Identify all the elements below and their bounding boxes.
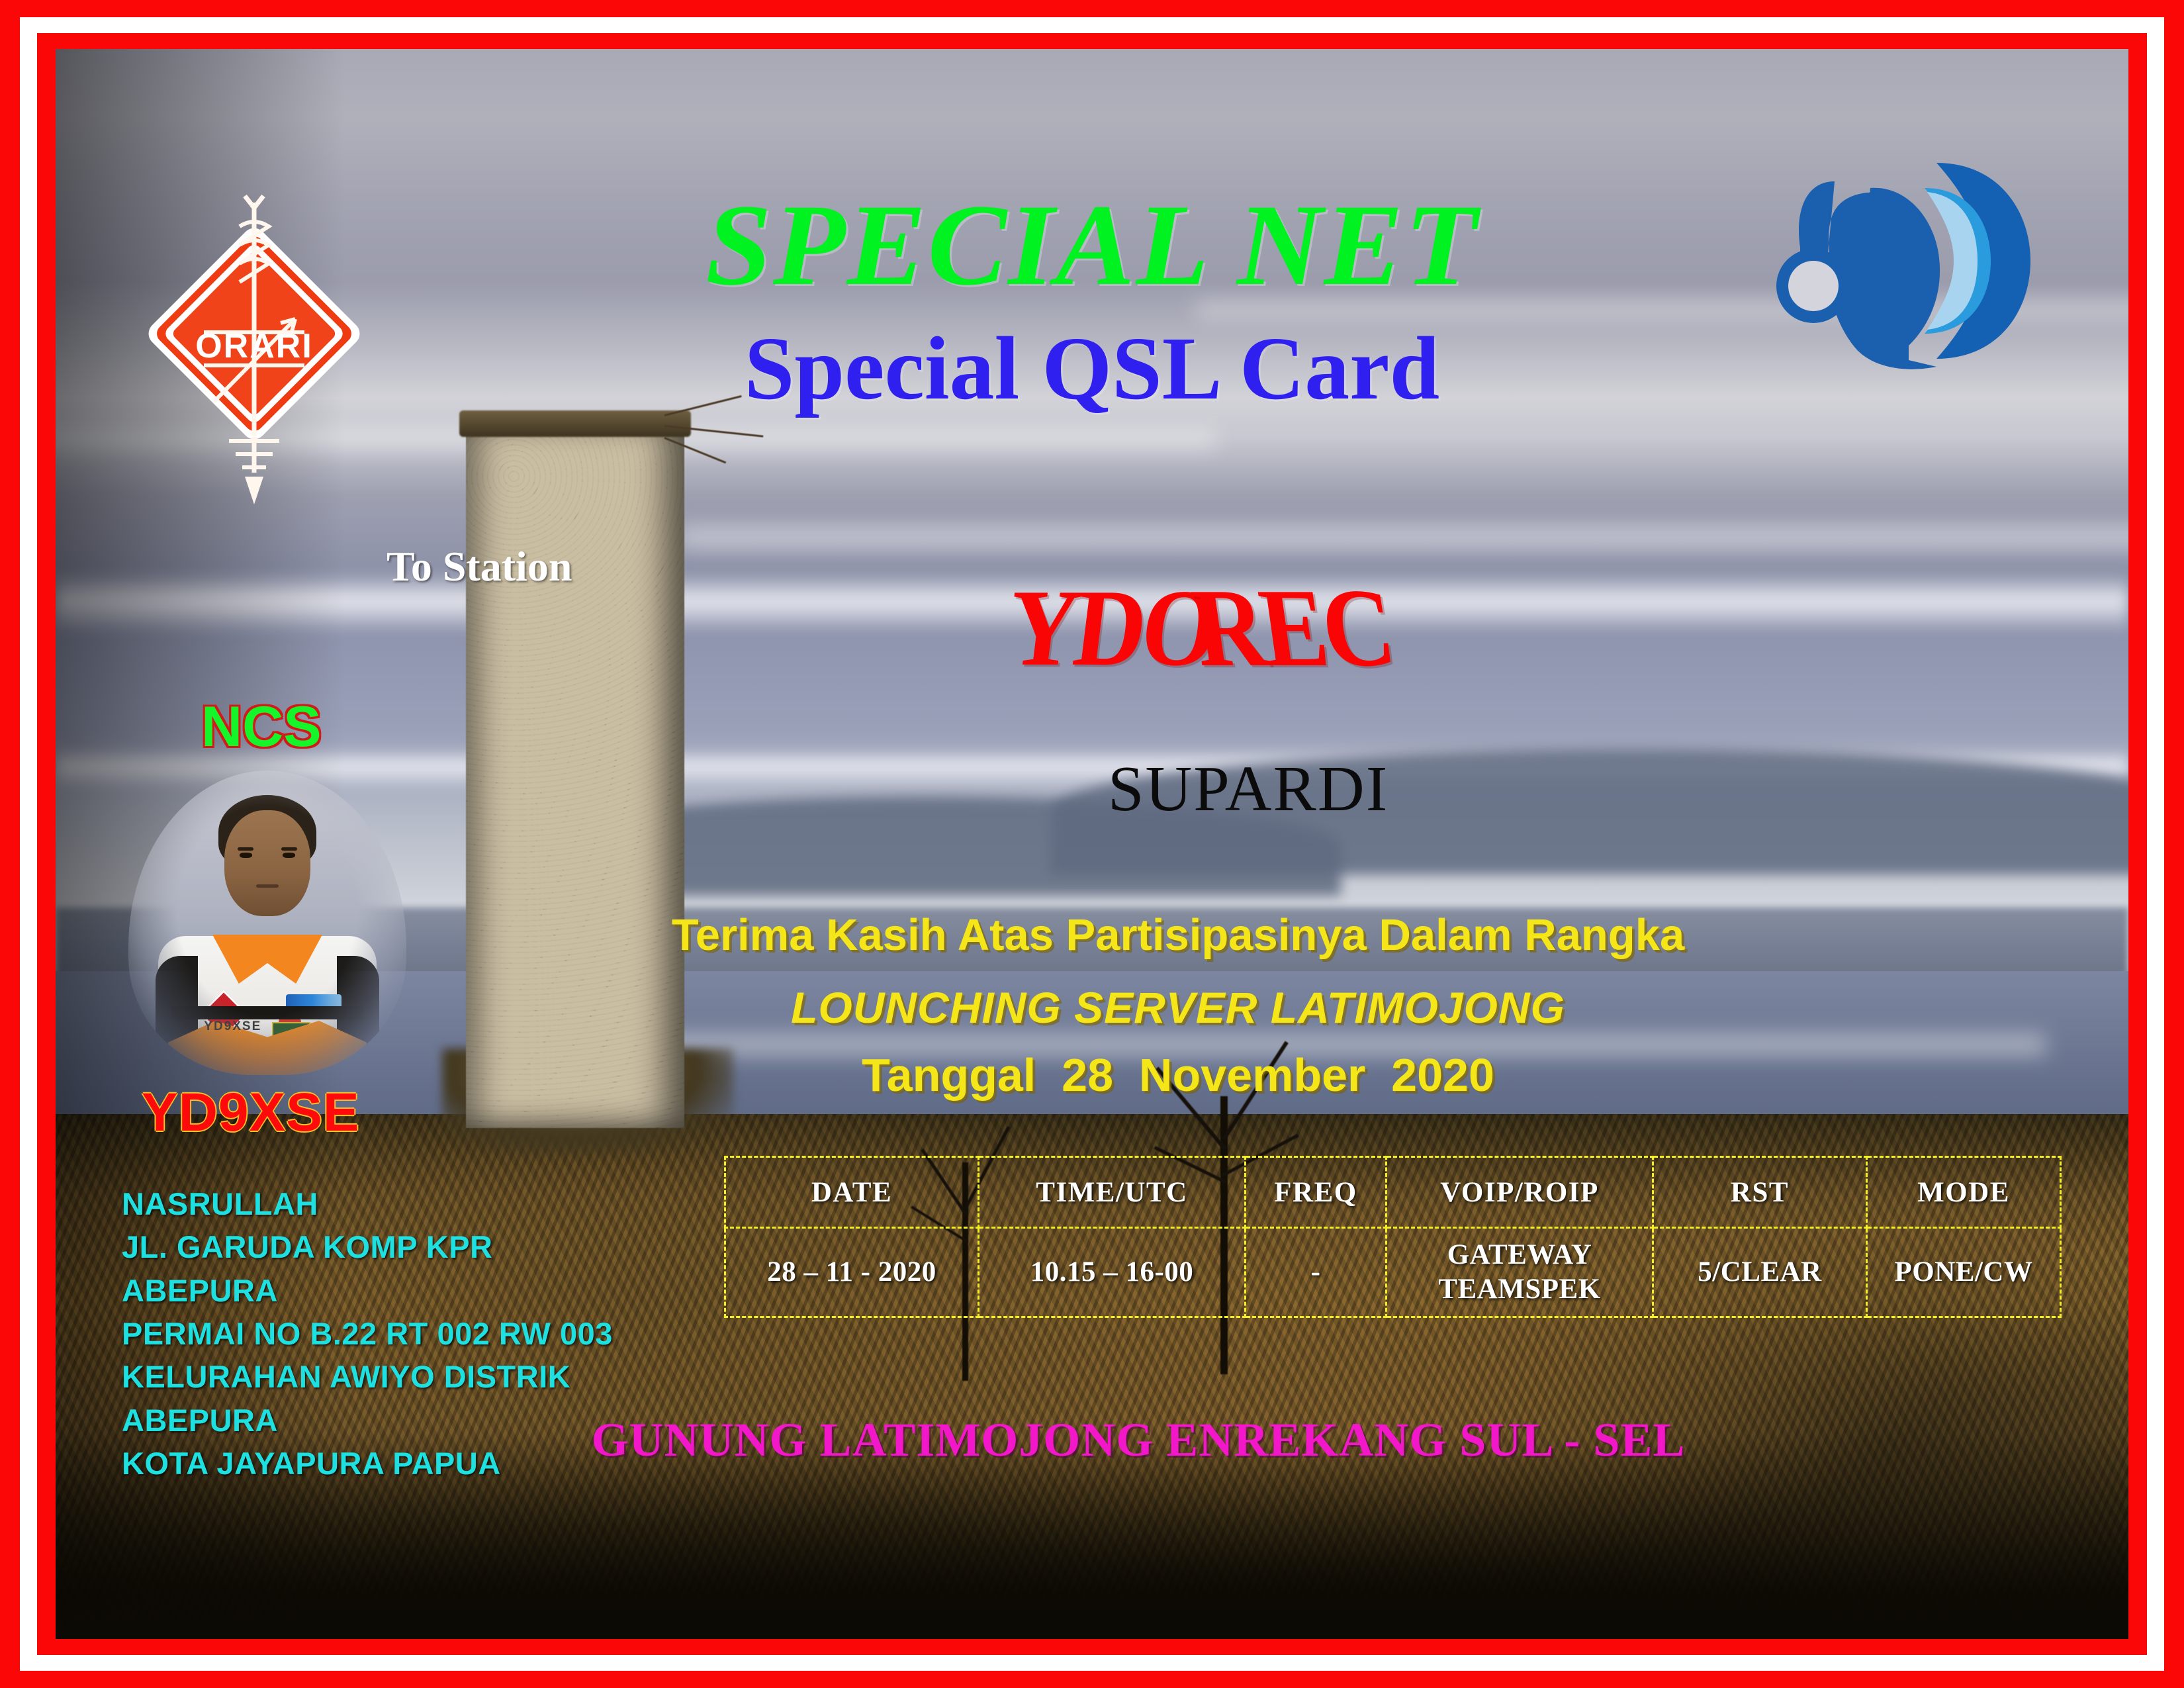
station-callsign: YDOREC: [1009, 572, 1389, 684]
cell-voip-line-2: TEAMSPEK: [1387, 1272, 1652, 1307]
table-row: 28 – 11 - 2020 10.15 – 16-00 - GATEWAY T…: [725, 1228, 2061, 1317]
ncs-label: NCS: [201, 694, 322, 760]
header-voip-roip: VOIP/ROIP: [1387, 1157, 1653, 1228]
cell-rst: 5/CLEAR: [1653, 1228, 1867, 1317]
header-date: DATE: [725, 1157, 979, 1228]
thanks-line-2-event: LOUNCHING SERVER LATIMOJONG: [56, 982, 2128, 1033]
callsign-part-2: REC: [1185, 564, 1398, 692]
header-rst: RST: [1653, 1157, 1867, 1228]
cell-time-utc: 10.15 – 16-00: [979, 1228, 1246, 1317]
portrait-mouth: [256, 884, 279, 888]
qso-details-table: DATE TIME/UTC FREQ VOIP/ROIP RST MODE 28…: [724, 1156, 2062, 1318]
thanks-line-3-date: Tanggal 28 November 2020: [56, 1049, 2128, 1102]
portrait-brow-left: [238, 847, 253, 851]
cell-mode: PONE/CW: [1867, 1228, 2061, 1317]
header-freq: FREQ: [1246, 1157, 1387, 1228]
address-line: ABEPURA: [122, 1269, 613, 1312]
cell-freq: -: [1246, 1228, 1387, 1317]
thanks-line-1: Terima Kasih Atas Partisipasinya Dalam R…: [56, 910, 2128, 961]
address-line: PERMAI NO B.22 RT 002 RW 003: [122, 1312, 613, 1355]
header-time-utc: TIME/UTC: [979, 1157, 1246, 1228]
portrait-face: [224, 810, 310, 916]
portrait-brow-right: [281, 847, 297, 851]
cloud-streak: [678, 526, 2128, 549]
cell-voip-line-1: GATEWAY: [1387, 1238, 1652, 1272]
cell-voip-roip: GATEWAY TEAMSPEK: [1387, 1228, 1653, 1317]
portrait-eye-right: [283, 853, 295, 858]
portrait-eye-left: [240, 853, 252, 858]
address-line: NASRULLAH: [122, 1182, 613, 1225]
footer-address-url: Address : amatir.latimojong.com: [1326, 1632, 1986, 1639]
header-mode: MODE: [1867, 1157, 2061, 1228]
qsl-card: ORARI SPECIAL NET Special QSL Card To St…: [0, 0, 2184, 1688]
address-line: JL. GARUDA KOMP KPR: [122, 1225, 613, 1268]
page-subtitle-qsl-card: Special QSL Card: [56, 317, 2128, 420]
footer-motto: "AMATIR RADIO ADALAH PROGRESIVE": [135, 1632, 1081, 1639]
page-title-special-net: SPECIAL NET: [56, 179, 2128, 312]
location-caption: GUNUNG LATIMOJONG ENREKANG SUL - SEL: [56, 1413, 2128, 1468]
address-line: KELURAHAN AWIYO DISTRIK: [122, 1355, 613, 1398]
table-header-row: DATE TIME/UTC FREQ VOIP/ROIP RST MODE: [725, 1157, 2061, 1228]
background-photograph: ORARI SPECIAL NET Special QSL Card To St…: [56, 49, 2128, 1639]
cell-date: 28 – 11 - 2020: [725, 1228, 979, 1317]
to-station-label: To Station: [387, 542, 572, 591]
station-operator-name: SUPARDI: [1108, 752, 1388, 826]
